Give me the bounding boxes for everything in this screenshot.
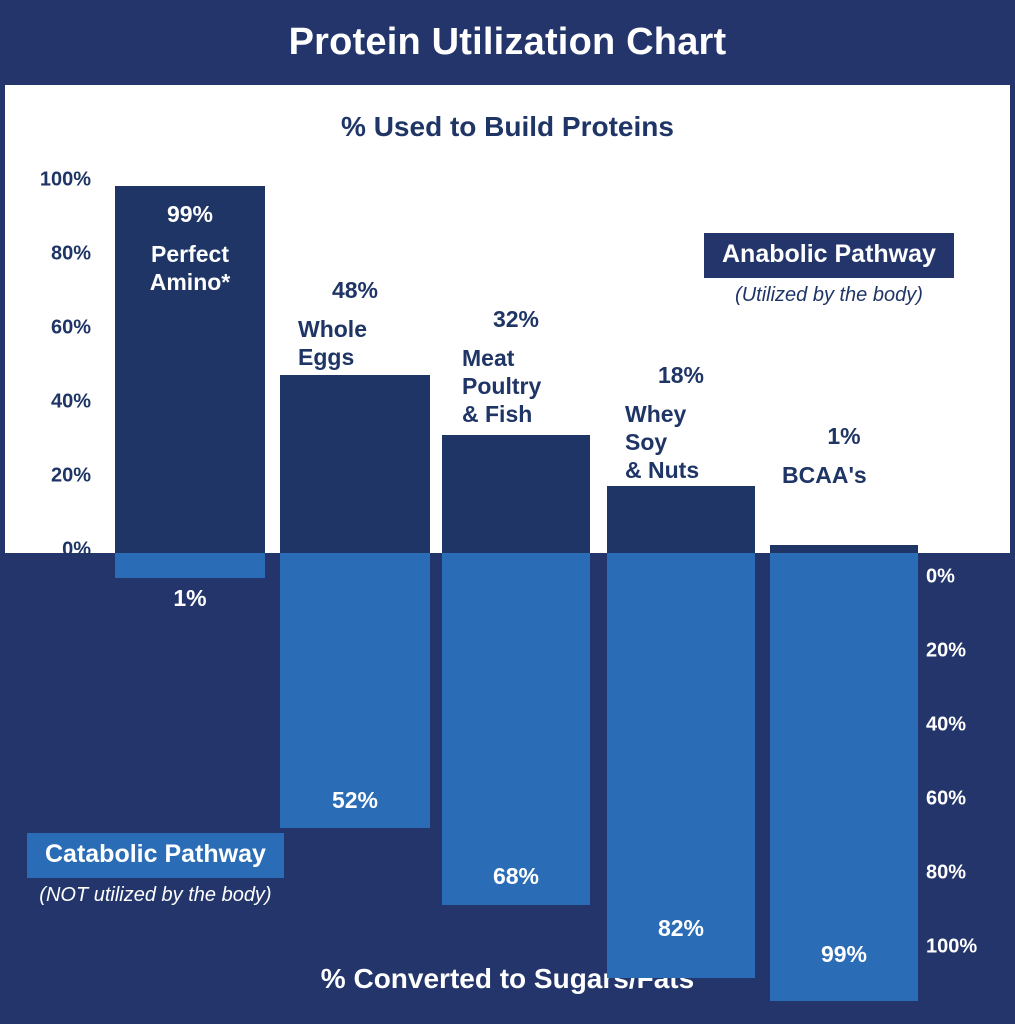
bar-caption-meat-poultry-fish: Meat Poultry & Fish xyxy=(462,344,541,428)
bar-down-value: 1% xyxy=(115,585,265,612)
bar-caption-bcaas: BCAA's xyxy=(782,461,867,489)
bar-caption-perfect-amino: Perfect Amino* xyxy=(115,240,265,296)
protein-utilization-chart: Protein Utilization Chart % Used to Buil… xyxy=(0,0,1015,1024)
legend-anabolic: Anabolic Pathway (Utilized by the body) xyxy=(704,233,954,307)
bar-group-bcaas[interactable]: 1% BCAA's 99% xyxy=(770,85,918,1019)
legend-catabolic-note: (NOT utilized by the body) xyxy=(27,884,284,907)
legend-anabolic-note: (Utilized by the body) xyxy=(704,284,954,307)
header-bar: Protein Utilization Chart xyxy=(0,0,1015,85)
bar-up-whole-eggs[interactable] xyxy=(280,375,430,553)
bar-up-value: 48% xyxy=(280,277,430,304)
bar-up-meat-poultry-fish[interactable] xyxy=(442,435,590,553)
bar-down-whole-eggs[interactable] xyxy=(280,553,430,828)
bar-down-whey-soy-nuts[interactable] xyxy=(607,553,755,978)
bar-down-meat-poultry-fish[interactable] xyxy=(442,553,590,905)
bar-group-whey-soy-nuts[interactable]: 18% Whey Soy & Nuts 82% xyxy=(607,85,755,1019)
bar-group-whole-eggs[interactable]: 48% Whole Eggs 52% xyxy=(280,85,430,1019)
bar-up-value: 18% xyxy=(607,362,755,389)
bar-down-bcaas[interactable] xyxy=(770,553,918,1001)
bar-down-perfect-amino[interactable] xyxy=(115,553,265,578)
chart-frame: % Used to Build Proteins % Converted to … xyxy=(0,85,1015,1024)
bar-up-whey-soy-nuts[interactable] xyxy=(607,486,755,553)
bar-up-bcaas[interactable] xyxy=(770,545,918,553)
legend-catabolic-badge: Catabolic Pathway xyxy=(27,833,284,878)
bar-up-value: 1% xyxy=(770,423,918,450)
bar-group-meat-poultry-fish[interactable]: 32% Meat Poultry & Fish 68% xyxy=(442,85,590,1019)
legend-anabolic-badge: Anabolic Pathway xyxy=(704,233,954,278)
bar-caption-whey-soy-nuts: Whey Soy & Nuts xyxy=(625,400,699,484)
page-title: Protein Utilization Chart xyxy=(289,21,727,64)
legend-catabolic: Catabolic Pathway (NOT utilized by the b… xyxy=(27,833,284,907)
bar-up-value: 32% xyxy=(442,306,590,333)
bar-caption-whole-eggs: Whole Eggs xyxy=(298,315,367,371)
